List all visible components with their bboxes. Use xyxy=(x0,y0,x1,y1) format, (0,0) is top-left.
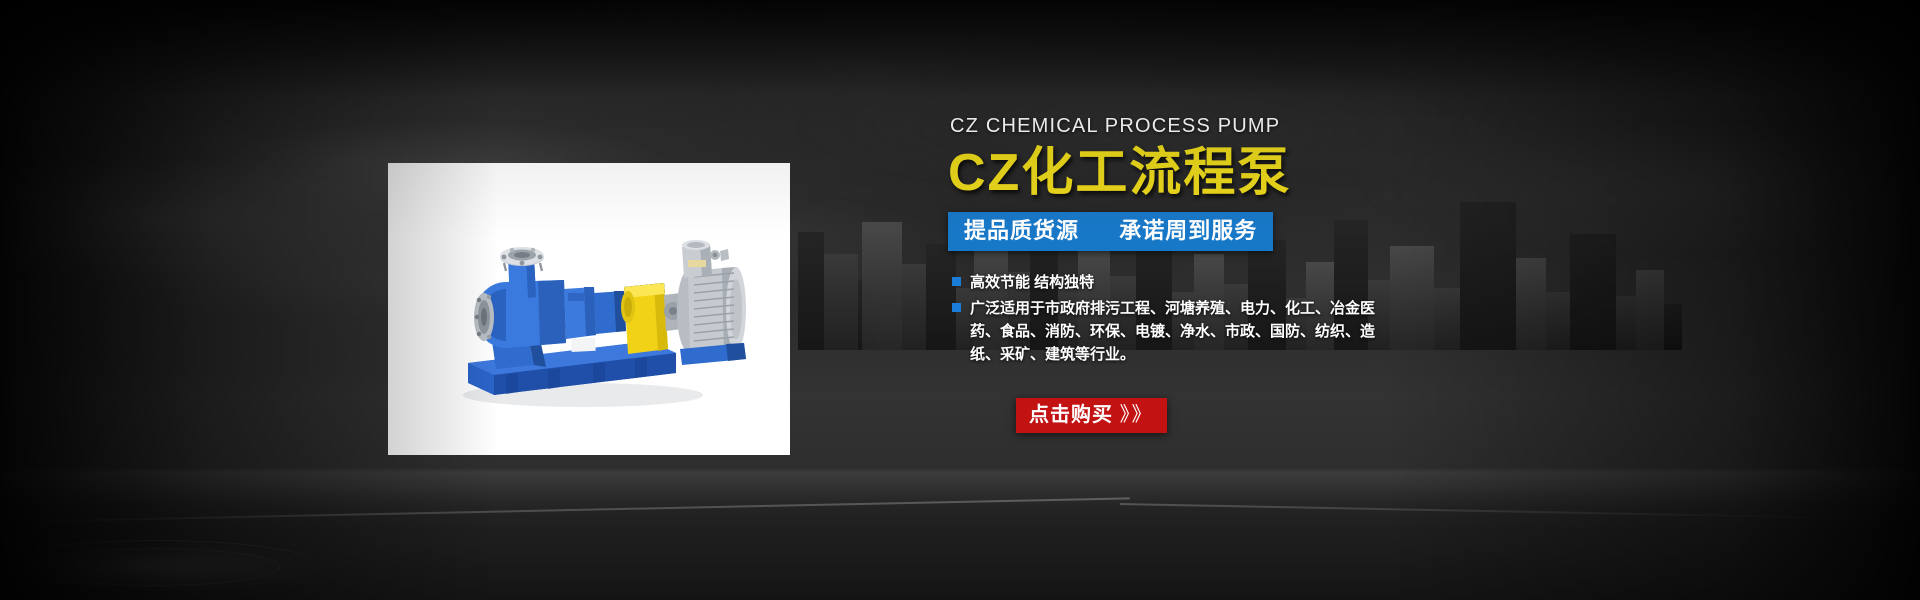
promo-bar: 提品质货源 承诺周到服务 xyxy=(948,212,1273,251)
list-item: 广泛适用于市政府排污工程、河塘养殖、电力、化工、冶金医药、食品、消防、环保、电镀… xyxy=(952,297,1468,366)
promo-right-text: 承诺周到服务 xyxy=(1119,218,1257,243)
eyebrow-subtitle: CZ CHEMICAL PROCESS PUMP xyxy=(950,112,1468,140)
copy-block: CZ CHEMICAL PROCESS PUMP CZ化工流程泵 提品质货源 承… xyxy=(948,112,1468,369)
product-image-card xyxy=(388,163,790,455)
feature-text: 高效节能 结构独特 xyxy=(970,271,1094,294)
square-bullet-icon xyxy=(952,277,961,286)
promo-left-text: 提品质货源 xyxy=(964,218,1079,243)
buy-now-button[interactable]: 点击购买 》》 xyxy=(1016,398,1167,433)
page-title: CZ化工流程泵 xyxy=(948,144,1468,202)
buy-now-label: 点击购买 xyxy=(1029,404,1113,426)
feature-list: 高效节能 结构独特 广泛适用于市政府排污工程、河塘养殖、电力、化工、冶金医药、食… xyxy=(952,271,1468,366)
feature-text: 广泛适用于市政府排污工程、河塘养殖、电力、化工、冶金医药、食品、消防、环保、电镀… xyxy=(970,297,1390,366)
ground-ellipse-ring xyxy=(30,548,280,586)
double-chevron-right-icon: 》》 xyxy=(1120,404,1154,426)
hero-banner: CZ CHEMICAL PROCESS PUMP CZ化工流程泵 提品质货源 承… xyxy=(0,0,1920,600)
square-bullet-icon xyxy=(952,303,961,312)
list-item: 高效节能 结构独特 xyxy=(952,271,1468,294)
pump-illustration xyxy=(388,163,790,455)
